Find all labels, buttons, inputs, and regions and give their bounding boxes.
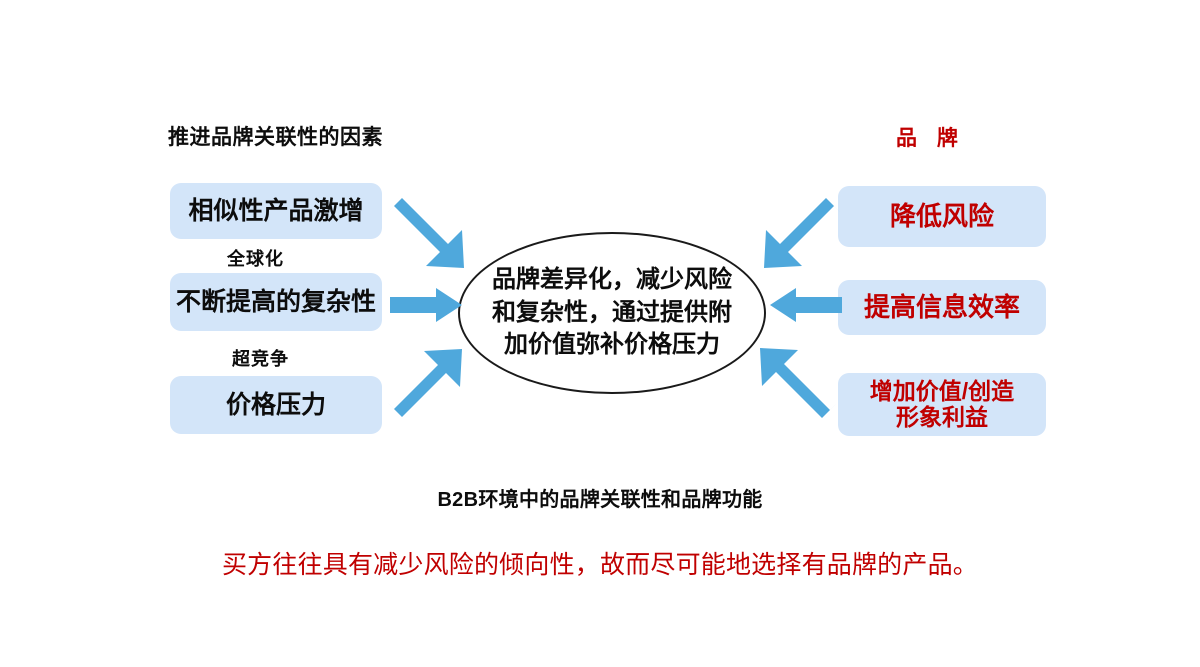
center-ellipse: 品牌差异化，减少风险 和复杂性，通过提供附 加价值弥补价格压力 [458,232,766,394]
left-column-heading: 推进品牌关联性的因素 [168,127,383,148]
right-box-3-label: 增加价值/创造 形象利益 [870,379,1014,431]
right-box-2-label: 提高信息效率 [864,293,1020,322]
mini-label-globalization: 全球化 [227,250,284,268]
arrow-down-right-icon [386,196,472,268]
left-box-2-label: 不断提高的复杂性 [176,288,376,316]
arrow-up-left-icon [754,348,840,420]
mini-label-hypercompetition: 超竞争 [232,350,289,368]
slide-canvas: 推进品牌关联性的因素 品 牌 相似性产品激增 不断提高的复杂性 价格压力 全球化… [0,0,1200,667]
right-column-heading: 品 牌 [896,128,965,149]
left-box-similar-products[interactable]: 相似性产品激增 [170,183,382,239]
diagram-caption-title: B2B环境中的品牌关联性和品牌功能 [0,483,1200,512]
left-box-increasing-complexity[interactable]: 不断提高的复杂性 [170,273,382,331]
center-ellipse-text: 品牌差异化，减少风险 和复杂性，通过提供附 加价值弥补价格压力 [477,264,747,362]
arrow-left-icon [770,288,842,322]
right-box-add-value-image[interactable]: 增加价值/创造 形象利益 [838,373,1046,436]
right-box-information-efficiency[interactable]: 提高信息效率 [838,280,1046,335]
right-box-1-label: 降低风险 [890,202,994,231]
diagram-caption-note: 买方往往具有减少风险的倾向性，故而尽可能地选择有品牌的产品。 [0,545,1200,581]
arrow-right-icon [390,288,462,322]
arrow-up-right-icon [388,349,470,419]
right-box-reduce-risk[interactable]: 降低风险 [838,186,1046,247]
left-box-price-pressure[interactable]: 价格压力 [170,376,382,434]
left-box-1-label: 相似性产品激增 [188,197,363,225]
left-box-3-label: 价格压力 [226,391,326,419]
arrow-down-left-icon [756,196,842,268]
